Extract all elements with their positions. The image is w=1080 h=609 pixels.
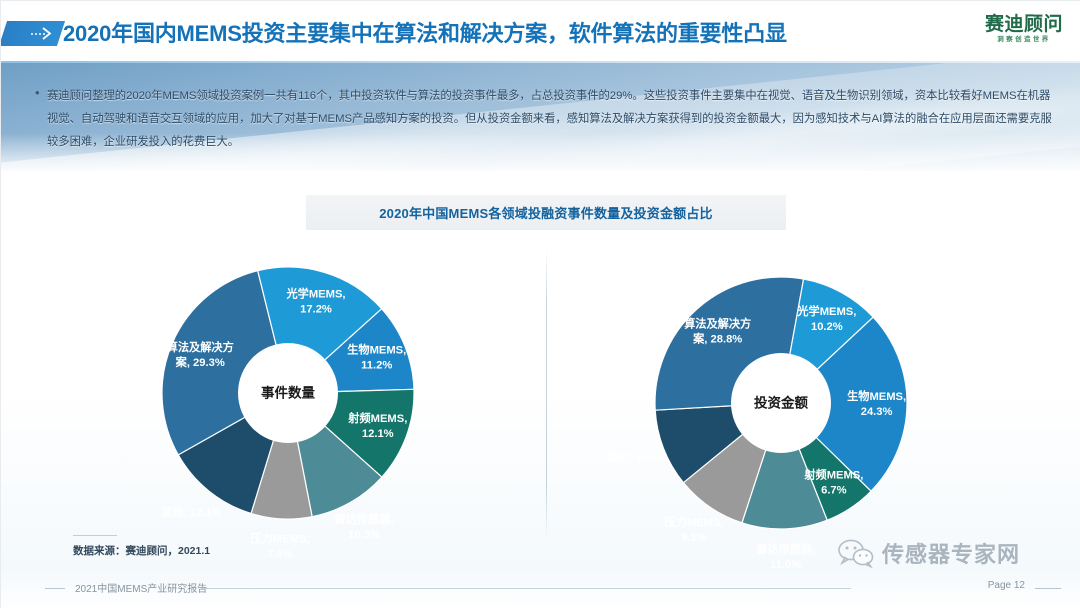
donut-chart-event-count: 生物MEMS,11.2%射频MEMS,12.1%雷达传感器,10.3%压力MEM… [144,249,432,537]
slide-body: 2020年中国MEMS各领域投融资事件数量及投资金额占比 生物MEMS,11.2… [1,171,1080,571]
chart-title-banner: 2020年中国MEMS各领域投融资事件数量及投资金额占比 [306,195,786,230]
summary-paragraph: 赛迪顾问整理的2020年MEMS领域投资案例一共有116个，其中投资软件与算法的… [47,85,1057,154]
pie-slice-label: 生物MEMS, [347,342,406,356]
charts-divider [546,249,547,541]
slide-header: 2020年国内MEMS投资主要集中在算法和解决方案，软件算法的重要性凸显 赛迪顾… [1,1,1080,63]
brand-logo: 赛迪顾问 洞察创造世界 [985,15,1063,44]
pie-slice-label: 24.3% [861,406,893,418]
pie-slice-label: 压力MEMS, [250,532,309,546]
chart-title-text: 2020年中国MEMS各领域投融资事件数量及投资金额占比 [379,203,713,222]
pie-slice-label: 其他, 10.0% [607,451,667,465]
pie-slice-label: 10.3% [348,529,380,541]
pie-slice-label: 案, 29.3% [175,355,225,369]
donut-center-label: 事件数量 [261,385,315,401]
donut-chart-investment-amount: 生物MEMS,24.3%射频MEMS,6.7%雷达传感器,11.0%压力MEMS… [637,259,925,547]
pie-slice-label: 案, 28.8% [692,331,742,345]
pie-slice-label: 压力MEMS, [664,515,723,529]
footer-rule-middle [201,588,851,589]
slide-canvas: 2020年国内MEMS投资主要集中在算法和解决方案，软件算法的重要性凸显 赛迪顾… [0,0,1080,608]
footer-rule-right [1035,588,1061,589]
pie-slice-label: 12.1% [362,428,394,440]
pie-slice-label: 雷达传感器, [334,512,393,526]
brand-logo-main: 赛迪顾问 [985,15,1063,34]
pie-slice-label: 11.2% [361,359,392,371]
pie-slice-label: 11.0% [770,559,801,571]
pie-slice-label: 光学MEMS, [285,287,345,301]
watermark-text: 传感器专家网 [882,537,1020,569]
hero-banner: • 赛迪顾问整理的2020年MEMS领域投资案例一共有116个，其中投资软件与算… [1,63,1080,171]
donut-svg: 生物MEMS,24.3%射频MEMS,6.7%雷达传感器,11.0%压力MEMS… [637,259,925,547]
pie-slice-label: 9.1% [681,532,707,544]
pie-slice-label: 雷达传感器, [756,542,815,556]
source-note: 数据来源：赛迪顾问，2021.1 [73,543,210,558]
brand-logo-tagline: 洞察创造世界 [985,37,1063,44]
pie-slice-label: 10.2% [811,321,843,333]
pie-slice-label: 生物MEMS, [847,389,906,403]
page-number: Page 12 [988,580,1025,591]
donut-center-label: 投资金额 [754,395,808,411]
slide-footer: 2021中国MEMS产业研究报告 Page 12 [1,571,1080,609]
wechat-icon [837,538,875,568]
pie-slice-label: 射频MEMS, [803,468,863,482]
footer-report-name: 2021中国MEMS产业研究报告 [75,580,207,595]
pie-slice-label: 光学MEMS, [796,304,856,318]
footer-rule-left [45,588,65,589]
pie-slice-label: 6.7% [821,485,847,497]
pie-slice-label: 算法及解决方 [683,316,751,330]
donut-svg: 生物MEMS,11.2%射频MEMS,12.1%雷达传感器,10.3%压力MEM… [144,249,432,537]
arrow-right-icon [1,21,65,46]
pie-slice-label: 其他, 12.1% [161,505,221,519]
pie-slice-label: 算法及解决方 [166,340,234,354]
bullet-marker: • [35,85,40,100]
source-divider [73,535,117,536]
pie-slice-label: 射频MEMS, [347,411,407,425]
pie-slice-label: 17.2% [300,304,332,316]
page-title: 2020年国内MEMS投资主要集中在算法和解决方案，软件算法的重要性凸显 [63,16,787,48]
watermark: 传感器专家网 [837,537,1020,569]
pie-slice-label: 7.8% [267,549,293,561]
